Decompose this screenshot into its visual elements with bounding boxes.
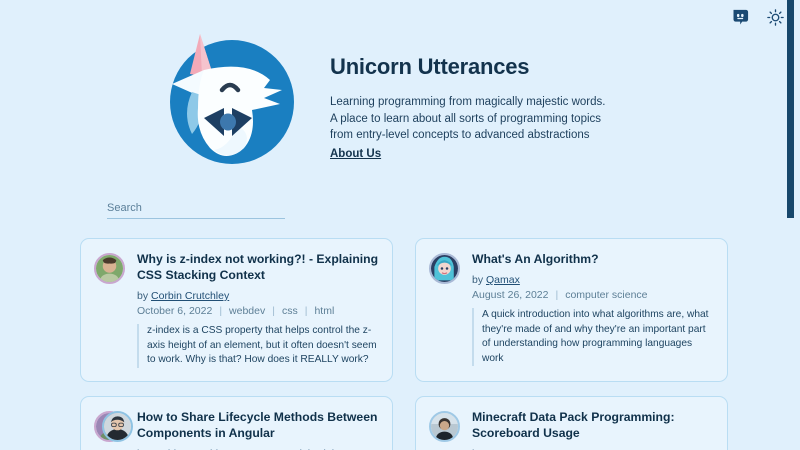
header-text-block: Unicorn Utterances Learning programming …	[330, 22, 605, 162]
site-logo[interactable]	[152, 22, 304, 174]
scrollbar-thumb[interactable]	[787, 0, 794, 218]
post-title[interactable]: How to Share Lifecycle Methods Between C…	[137, 409, 379, 441]
post-byline: by Qamax	[472, 274, 714, 286]
site-tagline: Learning programming from magically maje…	[330, 94, 605, 162]
search-icon	[85, 203, 98, 216]
meta-separator: |	[219, 305, 222, 317]
post-tag[interactable]: css	[282, 305, 298, 317]
post-date: August 26, 2022	[472, 289, 548, 301]
meta-separator: |	[555, 289, 558, 301]
post-card[interactable]: Minecraft Data Pack Programming: Scorebo…	[415, 396, 728, 450]
post-content: Why is z-index not working?! - Explainin…	[137, 251, 379, 368]
author-avatars	[429, 411, 461, 443]
avatar-photo-icon	[104, 413, 131, 440]
search-bar[interactable]	[85, 200, 285, 219]
tagline-line-1: Learning programming from magically maje…	[330, 94, 605, 111]
meta-separator: |	[305, 305, 308, 317]
post-tag[interactable]: computer science	[565, 289, 647, 301]
theme-toggle-button[interactable]	[764, 6, 786, 28]
post-title[interactable]: What's An Algorithm?	[472, 251, 714, 267]
avatar	[102, 411, 133, 442]
post-excerpt: A quick introduction into what algorithm…	[472, 308, 714, 366]
author-link[interactable]: Qamax	[486, 274, 520, 286]
post-card[interactable]: What's An Algorithm? by Qamax August 26,…	[415, 238, 728, 382]
post-card[interactable]: Why is z-index not working?! - Explainin…	[80, 238, 393, 382]
post-tag[interactable]: webdev	[229, 305, 265, 317]
avatar-photo-icon	[431, 255, 458, 282]
post-meta: August 26, 2022 | computer science	[472, 289, 714, 301]
post-content: What's An Algorithm? by Qamax August 26,…	[472, 251, 714, 368]
author-avatars	[94, 411, 126, 443]
post-card[interactable]: How to Share Lifecycle Methods Between C…	[80, 396, 393, 450]
post-list: Why is z-index not working?! - Explainin…	[80, 238, 728, 450]
post-meta: October 6, 2022 | webdev | css | html	[137, 305, 379, 317]
discord-button[interactable]	[730, 6, 752, 28]
avatar	[429, 411, 460, 442]
site-header: Unicorn Utterances Learning programming …	[152, 0, 800, 174]
tagline-line-2: A place to learn about all sorts of prog…	[330, 111, 605, 128]
avatar	[94, 253, 125, 284]
sun-icon	[766, 8, 785, 27]
tagline-line-3: from entry-level concepts to advanced ab…	[330, 127, 605, 144]
post-excerpt: z-index is a CSS property that helps con…	[137, 324, 379, 368]
avatar-photo-icon	[96, 255, 123, 282]
post-title[interactable]: Why is z-index not working?! - Explainin…	[137, 251, 379, 283]
post-content: How to Share Lifecycle Methods Between C…	[137, 409, 379, 450]
top-controls	[730, 0, 786, 34]
post-content: Minecraft Data Pack Programming: Scorebo…	[472, 409, 714, 450]
page-title: Unicorn Utterances	[330, 54, 605, 80]
by-prefix: by	[472, 274, 486, 286]
author-link[interactable]: Corbin Crutchley	[151, 290, 229, 302]
search-input[interactable]	[107, 200, 285, 219]
post-tag[interactable]: html	[314, 305, 334, 317]
author-avatars	[429, 253, 461, 285]
by-prefix: by	[137, 290, 151, 302]
author-avatars	[94, 253, 126, 285]
post-date: October 6, 2022	[137, 305, 212, 317]
avatar	[429, 253, 460, 284]
discord-icon	[731, 7, 751, 27]
post-byline: by Corbin Crutchley	[137, 290, 379, 302]
avatar-photo-icon	[431, 413, 458, 440]
post-title[interactable]: Minecraft Data Pack Programming: Scorebo…	[472, 409, 714, 441]
meta-separator: |	[272, 305, 275, 317]
about-us-link[interactable]: About Us	[330, 146, 381, 163]
unicorn-mascot-icon	[152, 22, 304, 174]
